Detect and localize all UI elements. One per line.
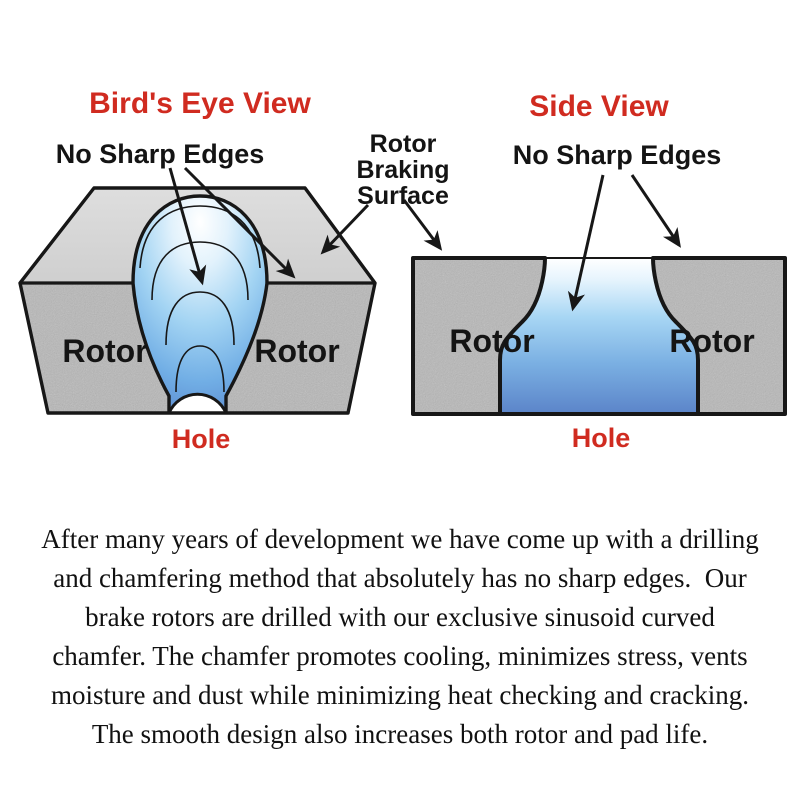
- rotor-label-left: Rotor: [62, 333, 147, 369]
- left-no-sharp-edges-label: No Sharp Edges: [56, 139, 265, 169]
- paragraph-line-1: After many years of development we have …: [0, 520, 800, 559]
- page-root: Rotor Rotor: [0, 0, 800, 800]
- paragraph-line-5: moisture and dust while minimizing heat …: [0, 676, 800, 715]
- rotor-braking-surface-line3: Surface: [357, 182, 449, 210]
- rotor-chamfer-diagram: Rotor Rotor: [0, 0, 800, 470]
- rotor-braking-surface-line2: Braking: [356, 156, 449, 184]
- diagram-area: Rotor Rotor: [0, 0, 800, 470]
- rotor-braking-surface-line1: Rotor: [370, 130, 437, 158]
- paragraph-line-3: brake rotors are drilled with our exclus…: [0, 598, 800, 637]
- leader-side-no-sharp-edges-right: [632, 175, 679, 245]
- side-view-figure: Rotor Rotor: [404, 175, 785, 414]
- birds-eye-view-figure: Rotor Rotor: [20, 168, 375, 413]
- birds-eye-view-title: Bird's Eye View: [89, 87, 311, 120]
- left-hole-label: Hole: [172, 424, 231, 454]
- side-rotor-label-right: Rotor: [669, 323, 754, 359]
- right-hole-label: Hole: [572, 423, 631, 453]
- rotor-braking-surface-label: Rotor Braking Surface: [356, 130, 449, 210]
- description-paragraph: After many years of development we have …: [0, 520, 800, 754]
- rotor-label-right: Rotor: [254, 333, 339, 369]
- paragraph-line-2: and chamfering method that absolutely ha…: [0, 559, 800, 598]
- paragraph-line-4: chamfer. The chamfer promotes cooling, m…: [0, 637, 800, 676]
- paragraph-line-6: The smooth design also increases both ro…: [0, 715, 800, 754]
- side-view-title: Side View: [529, 90, 669, 123]
- right-no-sharp-edges-label: No Sharp Edges: [513, 140, 722, 170]
- side-rotor-label-left: Rotor: [449, 323, 534, 359]
